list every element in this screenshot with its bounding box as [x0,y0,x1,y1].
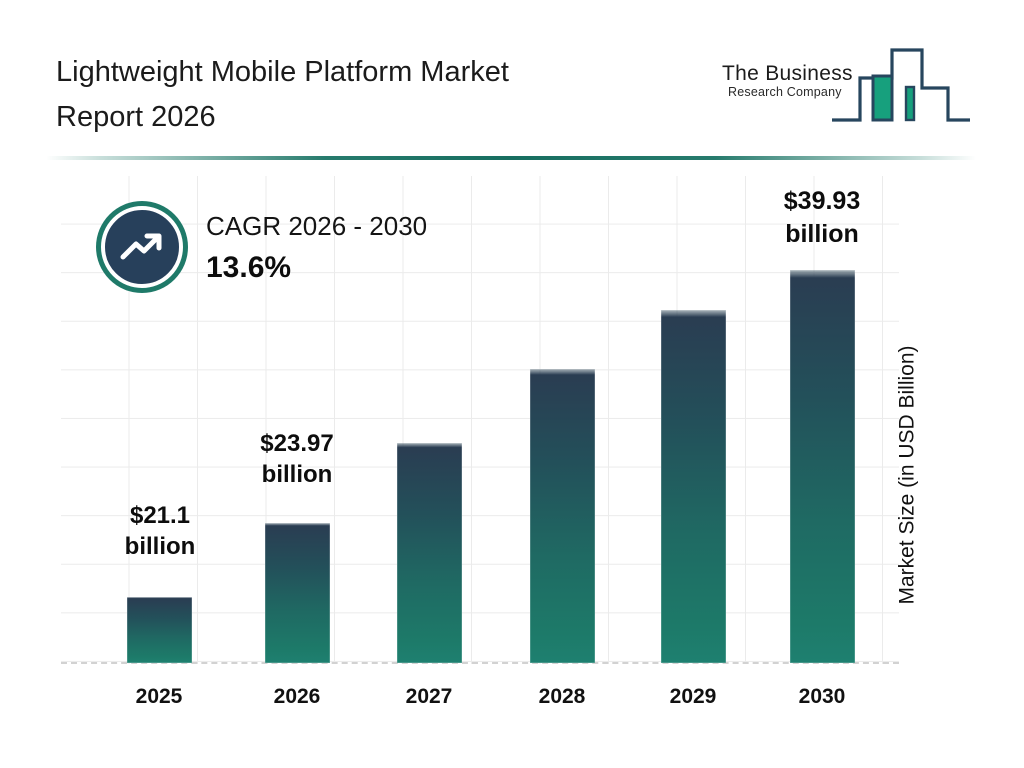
bar-value-label-2026-line2: billion [262,461,333,488]
bar-2026[interactable] [265,523,330,663]
x-axis-label-2027: 2027 [379,685,479,709]
cagr-callout: CAGR 2026 - 2030 13.6% [96,201,516,306]
bar-value-label-2025-line2: billion [125,533,196,560]
bar-value-label-2030-line2: billion [785,220,859,248]
bar-value-label-2025: $21.1 billion [100,500,220,562]
bar-value-label-2030-line1: $39.93 [784,187,860,215]
x-axis-label-2029: 2029 [643,685,743,709]
x-axis-label-2028: 2028 [512,685,612,709]
cagr-period-label: CAGR 2026 - 2030 [206,209,427,243]
x-axis-label-2025: 2025 [109,685,209,709]
cagr-value: 13.6% [206,247,427,289]
y-axis-title-text: Market Size (in USD Billion) [896,345,920,604]
cagr-text-block: CAGR 2026 - 2030 13.6% [206,209,427,289]
bar-2030[interactable] [790,270,855,663]
cagr-badge [96,201,188,293]
bar-value-label-2026-line1: $23.97 [260,430,333,457]
chart-bars: $21.1 billion $23.97 billion $39.93 bill… [0,0,1024,768]
chart-page: Lightweight Mobile Platform Market Repor… [0,0,1024,768]
trending-up-arrow-icon [101,206,183,288]
y-axis-title: Market Size (in USD Billion) [888,280,928,670]
x-axis-label-2026: 2026 [247,685,347,709]
bar-value-label-2030: $39.93 billion [757,185,887,251]
bar-value-label-2026: $23.97 billion [232,428,362,490]
bar-2025[interactable] [127,597,192,663]
x-axis-label-2030: 2030 [772,685,872,709]
bar-2027[interactable] [397,443,462,663]
bar-2029[interactable] [661,310,726,663]
bar-2028[interactable] [530,369,595,663]
bar-value-label-2025-line1: $21.1 [130,502,190,529]
